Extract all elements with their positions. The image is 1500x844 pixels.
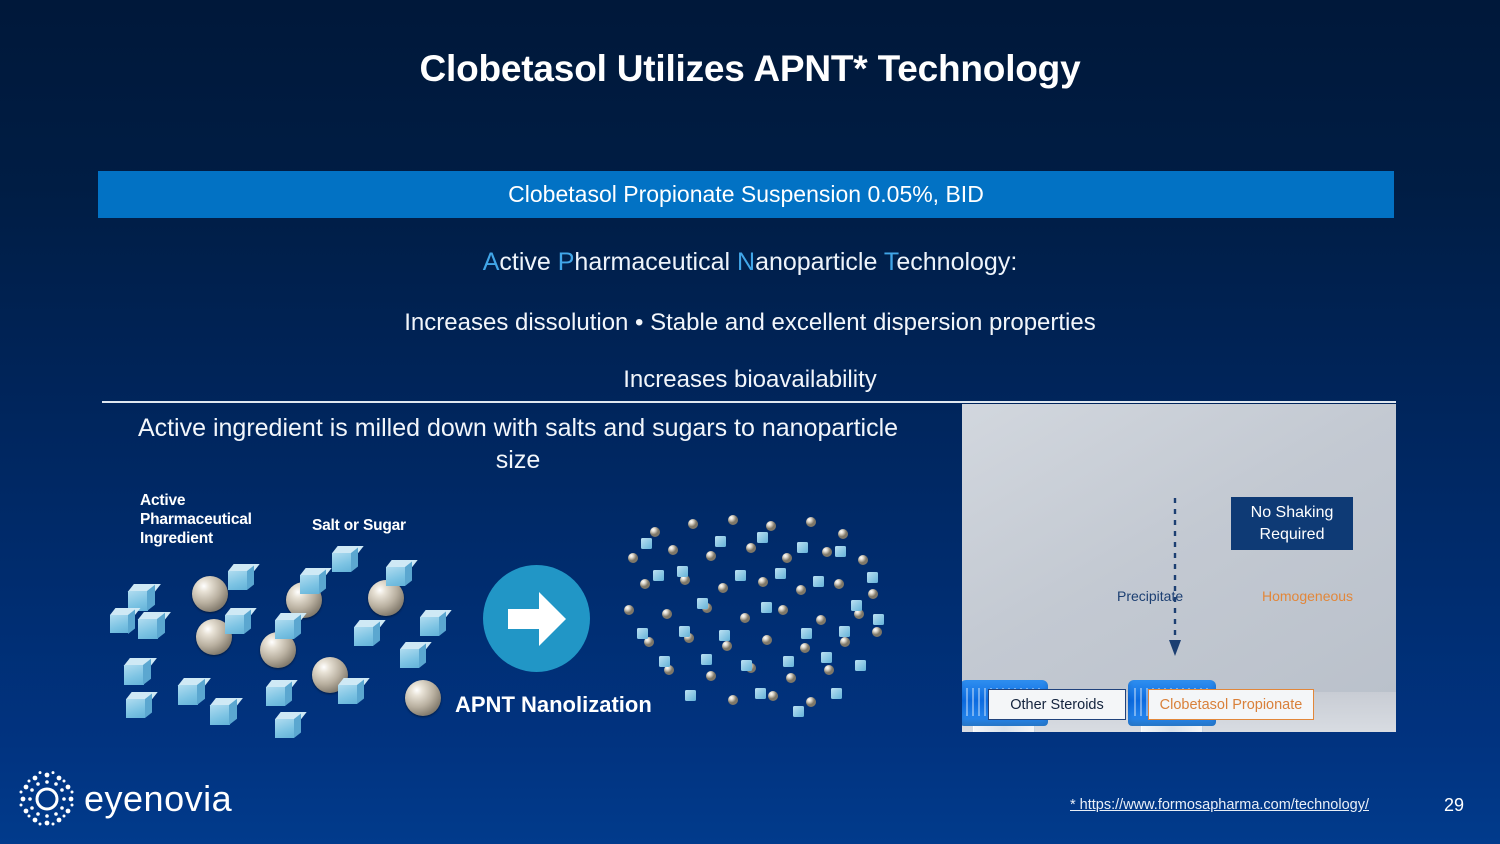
label-api-line-2: Pharmaceutical <box>140 511 252 530</box>
excipient-cube <box>110 608 135 633</box>
eyenovia-wordmark: eyenovia <box>84 778 232 820</box>
excipient-cube <box>228 564 254 590</box>
acronym-rest-pharmaceutical: harmaceutical <box>574 248 737 276</box>
excipient-cube <box>124 658 151 685</box>
nanoparticle-cloud <box>615 510 915 725</box>
excipient-cube <box>275 712 301 738</box>
excipient-cube <box>332 546 358 572</box>
label-precipitate: Precipitate <box>1117 588 1183 604</box>
excipient-cube <box>128 584 155 611</box>
vial-comparison-photo: Precipitate Homogeneous No Shaking Requi… <box>962 404 1396 732</box>
api-sphere <box>192 576 228 612</box>
acronym-rest-nanoparticle: anoparticle <box>755 248 884 276</box>
nanolization-diagram: Active Pharmaceutical Ingredient Salt or… <box>100 480 950 750</box>
precipitate-arrow-icon <box>1167 498 1183 658</box>
footnote-link[interactable]: * https://www.formosapharma.com/technolo… <box>1070 797 1369 813</box>
banner-text: Clobetasol Propionate Suspension 0.05%, … <box>508 181 984 208</box>
subtitle-banner: Clobetasol Propionate Suspension 0.05%, … <box>98 171 1394 218</box>
apnt-expansion: Active Pharmaceutical Nanoparticle Techn… <box>0 248 1500 277</box>
excipient-cube <box>138 612 165 639</box>
benefit-line-2: Increases bioavailability <box>0 366 1500 394</box>
right-arrow-icon <box>506 590 568 648</box>
page-title: Clobetasol Utilizes APNT* Technology <box>0 48 1500 90</box>
acronym-initial-t: T <box>884 248 897 276</box>
api-sphere <box>405 680 441 716</box>
badge-line-2: Required <box>1251 524 1334 546</box>
acronym-initial-n: N <box>737 248 755 276</box>
acronym-rest-active: ctive <box>499 248 557 276</box>
tag-clobetasol-propionate: Clobetasol Propionate <box>1148 689 1314 720</box>
excipient-cube <box>400 642 426 668</box>
label-homogeneous: Homogeneous <box>1262 588 1353 604</box>
excipient-cube <box>420 610 446 636</box>
acronym-initial-p: P <box>558 248 575 276</box>
excipient-cube <box>225 608 251 634</box>
diagram-caption: Active ingredient is milled down with sa… <box>118 412 918 476</box>
tag-other-steroids: Other Steroids <box>988 689 1126 720</box>
acronym-rest-technology: echnology: <box>896 248 1017 276</box>
label-api-line-1: Active <box>140 492 252 511</box>
no-shaking-required-badge: No Shaking Required <box>1231 497 1353 550</box>
acronym-initial-a: A <box>483 248 500 276</box>
excipient-cube <box>300 568 326 594</box>
excipient-cube <box>386 560 412 586</box>
section-divider <box>102 401 1396 403</box>
eyenovia-logo: eyenovia <box>18 770 232 828</box>
excipient-cube <box>354 620 380 646</box>
label-salt-or-sugar: Salt or Sugar <box>312 517 406 536</box>
page-number: 29 <box>1444 795 1464 816</box>
excipient-cube <box>210 698 237 725</box>
benefit-line-1: Increases dissolution • Stable and excel… <box>0 309 1500 337</box>
excipient-cube <box>266 680 292 706</box>
badge-line-1: No Shaking <box>1251 502 1334 524</box>
excipient-cube <box>178 678 205 705</box>
excipient-cube <box>126 692 152 718</box>
apnt-nanolization-label: APNT Nanolization <box>455 692 625 718</box>
nanolization-arrow-icon <box>483 565 590 672</box>
label-api-line-3: Ingredient <box>140 530 252 549</box>
label-active-pharmaceutical-ingredient: Active Pharmaceutical Ingredient <box>140 492 252 549</box>
excipient-cube <box>338 678 364 704</box>
eyenovia-ring-icon <box>18 770 76 828</box>
excipient-cube <box>275 613 301 639</box>
